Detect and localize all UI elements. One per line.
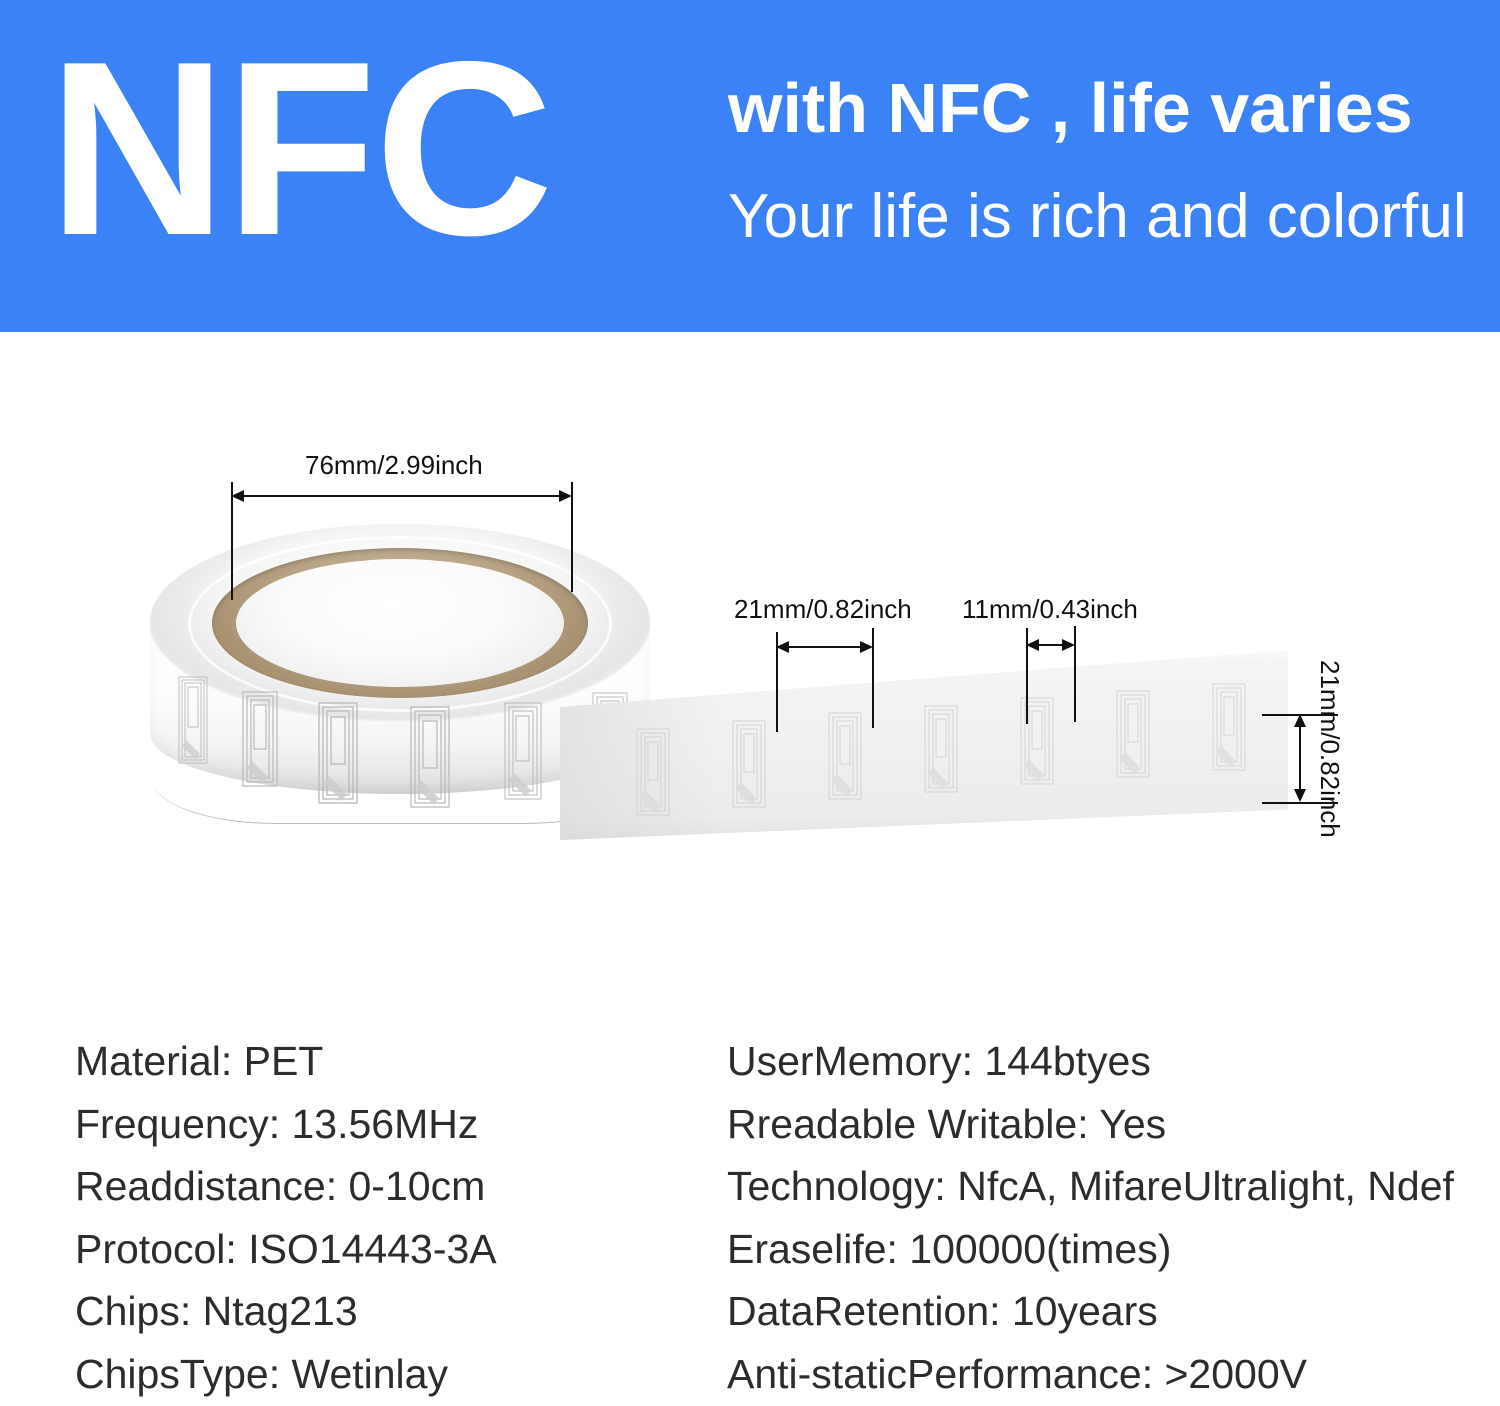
product-photo: 76mm/2.99inch 21mm/0.82inch 11mm/0.43inc… bbox=[0, 332, 1500, 1000]
nfc-inlay-tag bbox=[922, 703, 960, 795]
spec-column-right: UserMemory: 144btyes Rreadable Writable:… bbox=[727, 1030, 1487, 1405]
dimension-label-tag-width: 11mm/0.43inch bbox=[962, 594, 1138, 624]
specifications-section: Material: PET Frequency: 13.56MHz Readdi… bbox=[0, 1000, 1500, 1406]
arrow-head-up bbox=[1294, 714, 1306, 727]
roll-top-face bbox=[150, 524, 650, 720]
spec-item-chips: Chips: Ntag213 bbox=[75, 1280, 695, 1343]
arrow-head-down bbox=[1294, 789, 1306, 802]
nfc-logo-text: NFC bbox=[48, 24, 552, 272]
spec-item-frequency: Frequency: 13.56MHz bbox=[75, 1093, 695, 1156]
header-banner: NFC with NFC , life varies Your life is … bbox=[0, 0, 1500, 332]
dimension-label-tag-pitch: 21mm/0.82inch bbox=[734, 594, 912, 624]
spec-item-data-retention: DataRetention: 10years bbox=[727, 1280, 1487, 1343]
dimension-arrow-tag-height bbox=[1299, 722, 1301, 796]
dimension-arrow-tag-pitch bbox=[783, 646, 867, 648]
nfc-inlay-tag bbox=[176, 674, 210, 766]
spec-item-protocol: Protocol: ISO14443-3A bbox=[75, 1218, 695, 1281]
nfc-inlay-tag bbox=[1114, 688, 1152, 780]
nfc-inlay-tag bbox=[826, 710, 864, 802]
spec-item-material: Material: PET bbox=[75, 1030, 695, 1093]
arrow-head-left bbox=[776, 641, 789, 653]
banner-subtitle: Your life is rich and colorful bbox=[728, 180, 1467, 254]
nfc-inlay-tag bbox=[408, 704, 452, 810]
banner-tagline: with NFC , life varies bbox=[728, 68, 1413, 148]
nfc-inlay-tag bbox=[634, 726, 672, 818]
leader-line-tagheight-bottom bbox=[1262, 802, 1338, 804]
nfc-inlay-tag bbox=[240, 689, 280, 789]
spec-item-readable-writable: Rreadable Writable: Yes bbox=[727, 1093, 1487, 1156]
arrow-head-left bbox=[1026, 639, 1039, 651]
arrow-head-right bbox=[559, 490, 572, 502]
spec-item-chips-type: ChipsType: Wetinlay bbox=[75, 1343, 695, 1406]
spec-column-left: Material: PET Frequency: 13.56MHz Readdi… bbox=[75, 1030, 695, 1405]
arrow-head-right bbox=[860, 641, 873, 653]
spec-item-technology: Technology: NfcA, MifareUltralight, Ndef bbox=[727, 1155, 1487, 1218]
roll-rim-highlight bbox=[188, 536, 612, 712]
dimension-label-tag-height: 21mm/0.82inch bbox=[1315, 660, 1345, 838]
nfc-inlay-tag bbox=[1018, 695, 1056, 787]
nfc-inlay-tag bbox=[730, 718, 768, 810]
spec-item-read-distance: Readdistance: 0-10cm bbox=[75, 1155, 695, 1218]
nfc-inlay-tag bbox=[502, 700, 544, 802]
spec-item-anti-static: Anti-staticPerformance: >2000V bbox=[727, 1343, 1487, 1406]
spec-item-erase-life: Eraselife: 100000(times) bbox=[727, 1218, 1487, 1281]
dimension-label-roll-width: 76mm/2.99inch bbox=[305, 450, 483, 480]
dimension-arrow-roll-width bbox=[238, 495, 566, 497]
nfc-inlay-tag bbox=[316, 700, 360, 806]
arrow-head-left bbox=[231, 490, 244, 502]
nfc-inlay-tag bbox=[1210, 681, 1248, 773]
spec-item-user-memory: UserMemory: 144btyes bbox=[727, 1030, 1487, 1093]
arrow-head-right bbox=[1062, 639, 1075, 651]
product-infographic: NFC with NFC , life varies Your life is … bbox=[0, 0, 1500, 1406]
